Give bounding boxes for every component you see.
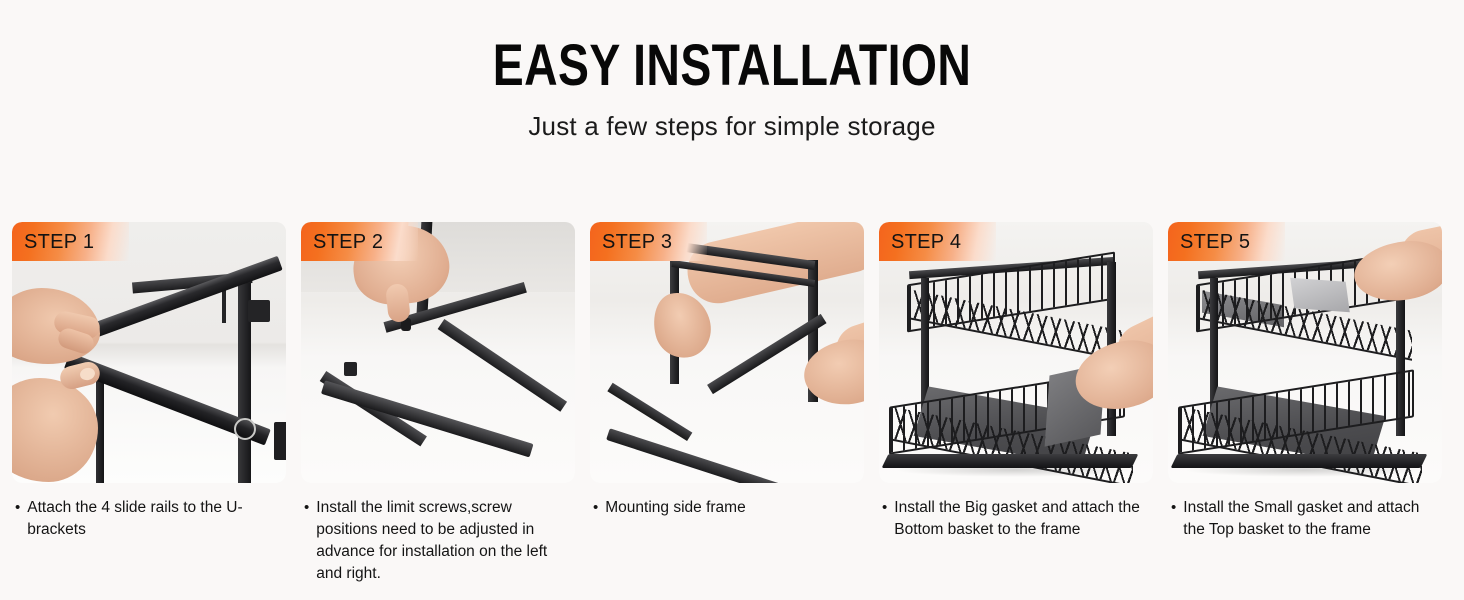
step-badge-4-label: STEP 4 <box>891 222 961 261</box>
step-5-caption: • Install the Small gasket and attach th… <box>1168 497 1442 541</box>
u-bracket-clip-lower <box>274 422 286 460</box>
page-title: EASY INSTALLATION <box>146 36 1317 97</box>
step-badge-3-label: STEP 3 <box>602 222 672 261</box>
bullet-icon: • <box>304 497 309 585</box>
step-5-photo: STEP 5 <box>1168 222 1442 483</box>
installation-steps-row: STEP 1 • Attach the 4 slide rails to the… <box>12 222 1452 585</box>
u-bracket-clip-upper <box>248 300 270 322</box>
step-2-photo: STEP 2 <box>301 222 575 483</box>
page-subtitle: Just a few steps for simple storage <box>0 111 1464 142</box>
step-card-3: STEP 3 • Mounting side frame <box>590 222 864 585</box>
step-3-photo: STEP 3 <box>590 222 864 483</box>
rack-base-rail <box>882 454 1139 468</box>
page-header: EASY INSTALLATION Just a few steps for s… <box>0 0 1464 142</box>
step-card-2: STEP 2 • Install the limit screws,screw … <box>301 222 575 585</box>
step-card-5: STEP 5 • Install the Small gasket and at… <box>1168 222 1442 585</box>
step-badge-5-label: STEP 5 <box>1180 222 1250 261</box>
step-3-caption: • Mounting side frame <box>590 497 864 519</box>
step-card-4: STEP 4 • Install the Big gasket and atta… <box>879 222 1153 585</box>
step-badge-1-label: STEP 1 <box>24 222 94 261</box>
step-4-caption-text: Install the Big gasket and attach the Bo… <box>894 497 1153 541</box>
step-4-caption: • Install the Big gasket and attach the … <box>879 497 1153 541</box>
bullet-icon: • <box>593 497 598 519</box>
step-2-caption: • Install the limit screws,screw positio… <box>301 497 575 585</box>
rack-base-rail <box>1171 454 1428 468</box>
step-3-caption-text: Mounting side frame <box>605 497 864 519</box>
step-5-caption-text: Install the Small gasket and attach the … <box>1183 497 1442 541</box>
step-badge-2-label: STEP 2 <box>313 222 383 261</box>
bullet-icon: • <box>15 497 20 541</box>
step-2-caption-text: Install the limit screws,screw positions… <box>316 497 575 585</box>
frame-foot <box>344 362 357 376</box>
step-1-caption: • Attach the 4 slide rails to the U-brac… <box>12 497 286 541</box>
bullet-icon: • <box>1171 497 1176 541</box>
step-1-photo: STEP 1 <box>12 222 286 483</box>
bullet-icon: • <box>882 497 887 541</box>
step-card-1: STEP 1 • Attach the 4 slide rails to the… <box>12 222 286 585</box>
step-1-caption-text: Attach the 4 slide rails to the U-bracke… <box>27 497 286 541</box>
small-gasket <box>1290 278 1350 313</box>
two-tier-rack <box>1168 222 1442 483</box>
ring-detail <box>234 418 256 440</box>
step-4-photo: STEP 4 <box>879 222 1153 483</box>
two-tier-rack <box>879 222 1153 483</box>
